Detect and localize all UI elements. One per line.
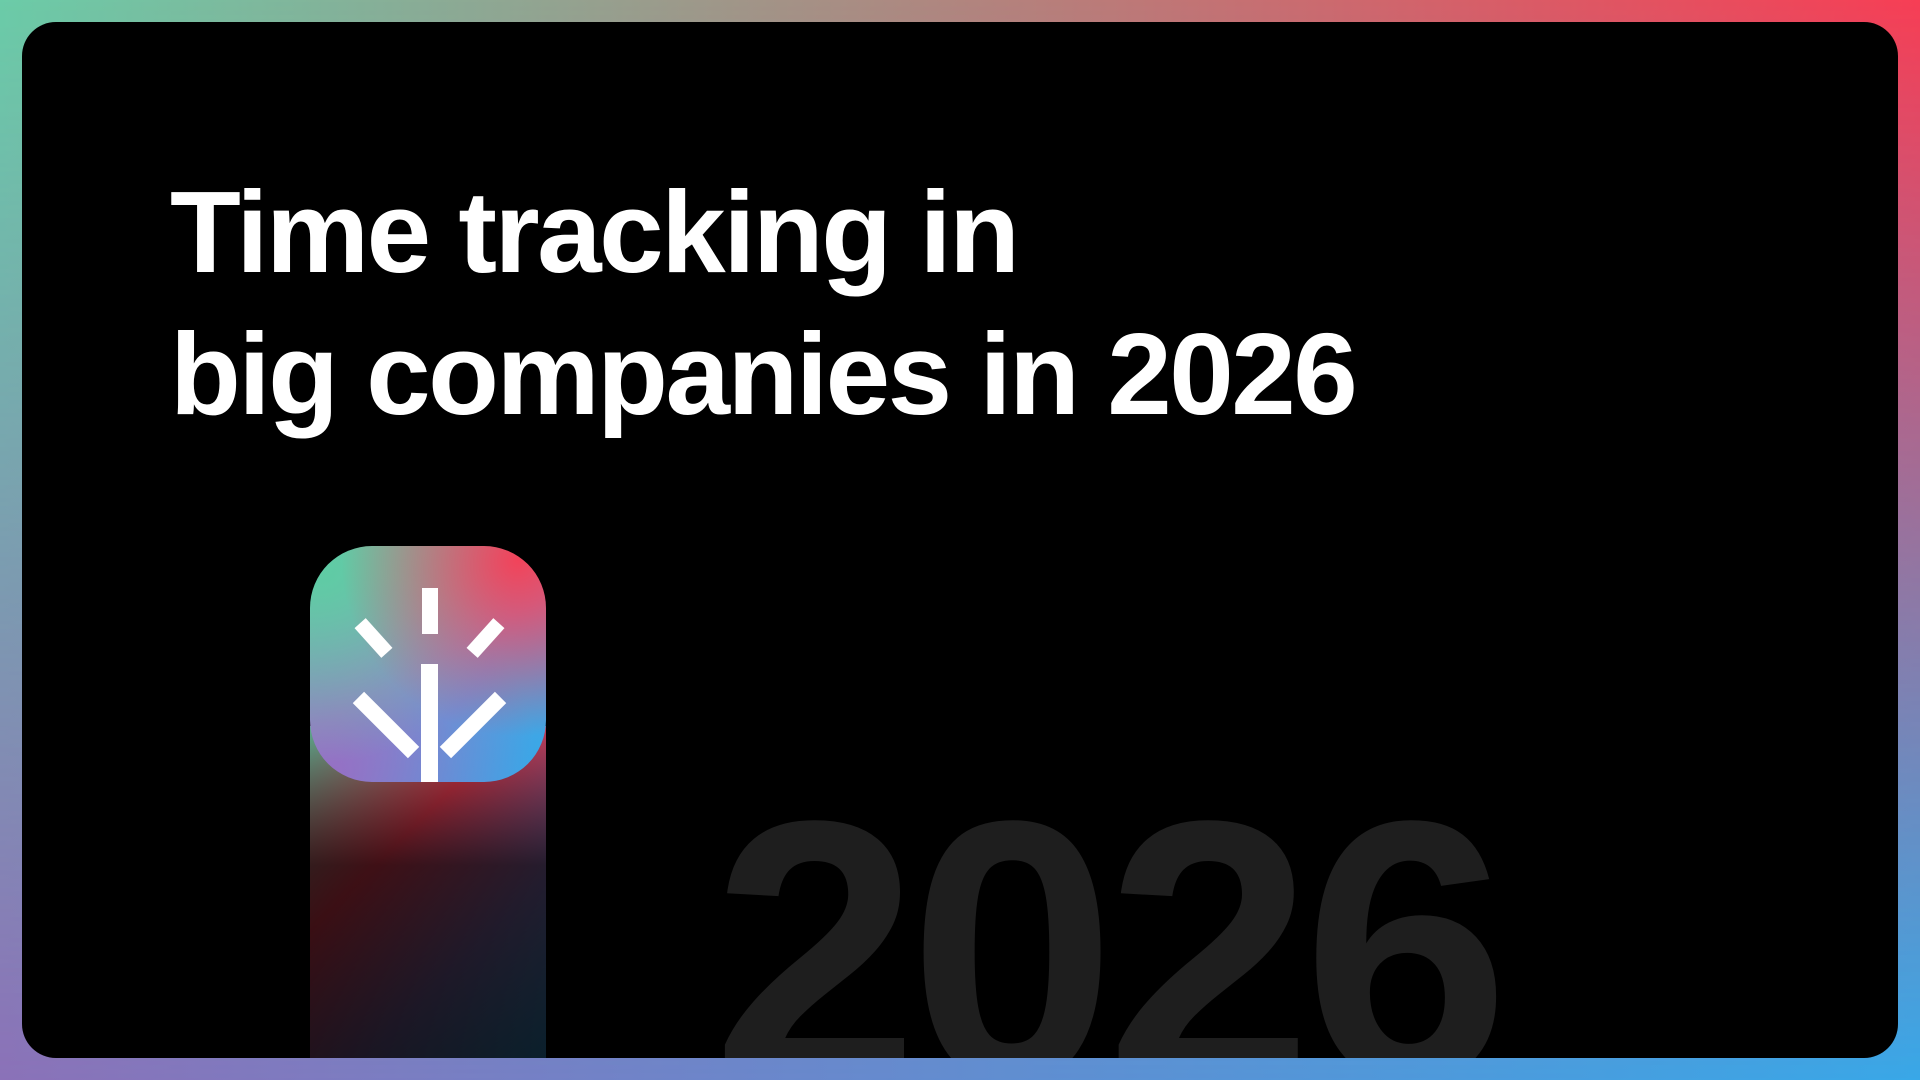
gradient-frame: 2026 Time tracking in big companies in 2… — [0, 0, 1920, 1080]
page-title: Time tracking in big companies in 2026 — [170, 162, 1355, 445]
timing-arrow-icon — [310, 546, 546, 782]
app-icon-block — [310, 546, 546, 1058]
slide-card: 2026 Time tracking in big companies in 2… — [22, 22, 1898, 1058]
app-icon-label: Upward arrow with spark rays app icon — [22, 22, 23, 23]
app-icon-tile — [310, 546, 546, 782]
year-watermark: 2026 — [712, 780, 1500, 1058]
